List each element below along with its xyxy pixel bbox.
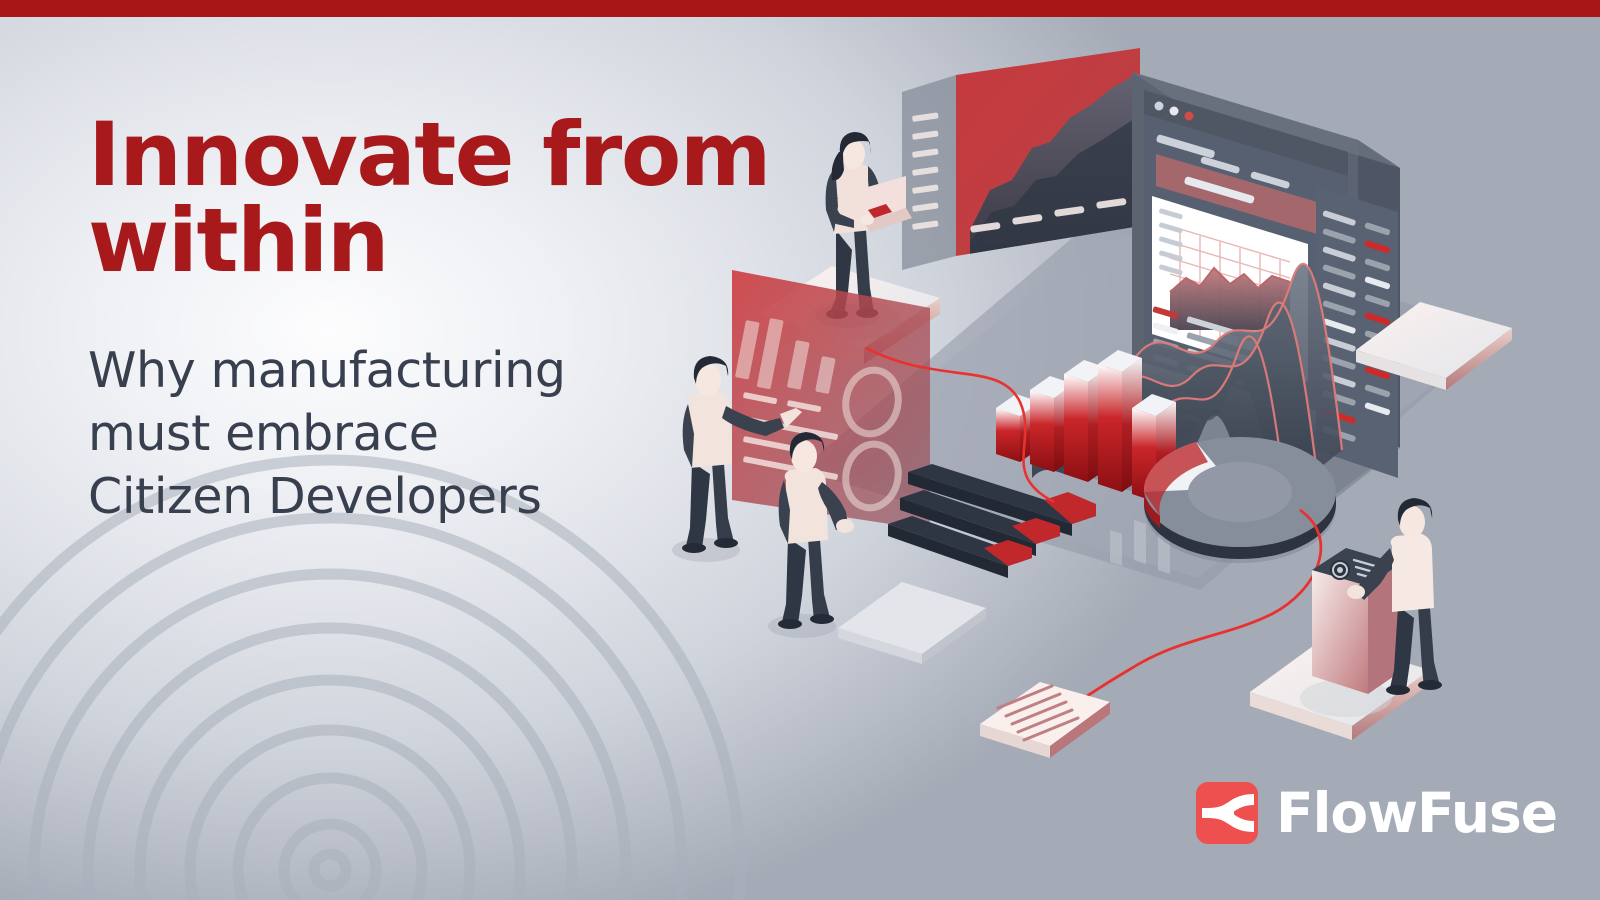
flowfuse-logo-mark-icon [1196, 782, 1258, 844]
donut-chart-3d [1144, 437, 1336, 563]
page-title: Innovate from within [88, 112, 778, 284]
flowfuse-logo[interactable]: FlowFuse [1196, 782, 1557, 844]
isometric-data-analytics-scene [640, 30, 1600, 790]
banner-canvas: Innovate from within Why manufacturing m… [0, 0, 1600, 900]
subhead-line-2: must embrace [88, 405, 439, 462]
top-accent-bar [0, 0, 1600, 17]
copy-block: Innovate from within Why manufacturing m… [88, 112, 778, 529]
subhead-line-3: Citizen Developers [88, 468, 542, 525]
page-subtitle: Why manufacturing must embrace Citizen D… [88, 340, 778, 528]
headline-line-2: within [88, 189, 388, 292]
floating-platform-card-left [838, 582, 986, 664]
flowfuse-wordmark: FlowFuse [1276, 786, 1557, 841]
subhead-line-1: Why manufacturing [88, 342, 566, 399]
